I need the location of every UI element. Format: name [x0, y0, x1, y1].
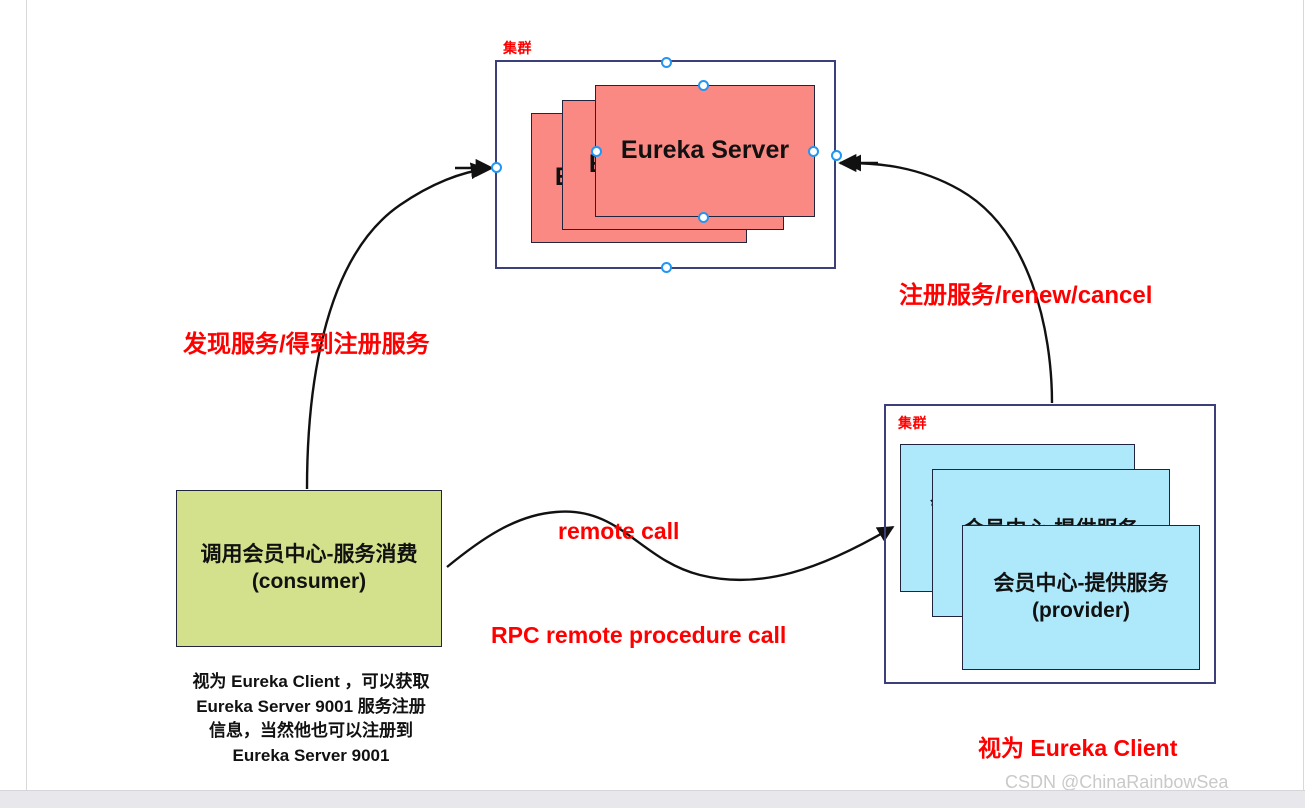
- consumer-caption-line-4: Eureka Server 9001: [233, 746, 390, 765]
- selection-handle-bottom[interactable]: [661, 262, 672, 273]
- selection-handle-left[interactable]: [491, 162, 502, 173]
- annotation-discover-service: 发现服务/得到注册服务: [183, 324, 430, 359]
- annotation-rpc: RPC remote procedure call: [491, 622, 786, 649]
- annotation-eureka-client: 视为 Eureka Client: [978, 729, 1177, 763]
- page-rule-right: [1303, 0, 1304, 790]
- selection-handle-right[interactable]: [831, 150, 842, 161]
- selection-handle-node-top[interactable]: [698, 80, 709, 91]
- annotation-remote-call: remote call: [558, 518, 679, 545]
- diagram-canvas: 集群 Eureka Server Eureka Server Eureka Se…: [0, 0, 1305, 808]
- consumer-caption-line-1: 视为 Eureka Client ，可以获取: [192, 672, 429, 691]
- page-footer-band: [0, 790, 1305, 808]
- selection-handle-node-bottom[interactable]: [698, 212, 709, 223]
- consumer-node[interactable]: 调用会员中心-服务消费 (consumer): [176, 490, 442, 647]
- selection-handle-node-right[interactable]: [808, 146, 819, 157]
- consumer-caption-line-2: Eureka Server 9001 服务注册: [196, 697, 426, 716]
- eureka-server-node-1[interactable]: Eureka Server: [595, 85, 815, 217]
- provider-node-1[interactable]: 会员中心-提供服务 (provider): [962, 525, 1200, 670]
- selection-handle-top[interactable]: [661, 57, 672, 68]
- eureka-server-node-1-label: Eureka Server: [621, 135, 789, 166]
- cluster-label-server: 集群: [503, 38, 532, 58]
- provider-node-1-label: 会员中心-提供服务 (provider): [994, 571, 1169, 624]
- consumer-caption: 视为 Eureka Client ，可以获取 Eureka Server 900…: [96, 670, 526, 769]
- annotation-register-service: 注册服务/renew/cancel: [899, 275, 1152, 310]
- consumer-node-label: 调用会员中心-服务消费 (consumer): [201, 542, 418, 595]
- consumer-caption-line-3: 信息，当然他也可以注册到: [209, 721, 413, 740]
- page-rule-left: [26, 0, 27, 790]
- selection-handle-node-left[interactable]: [591, 146, 602, 157]
- cluster-label-provider: 集群: [898, 413, 927, 433]
